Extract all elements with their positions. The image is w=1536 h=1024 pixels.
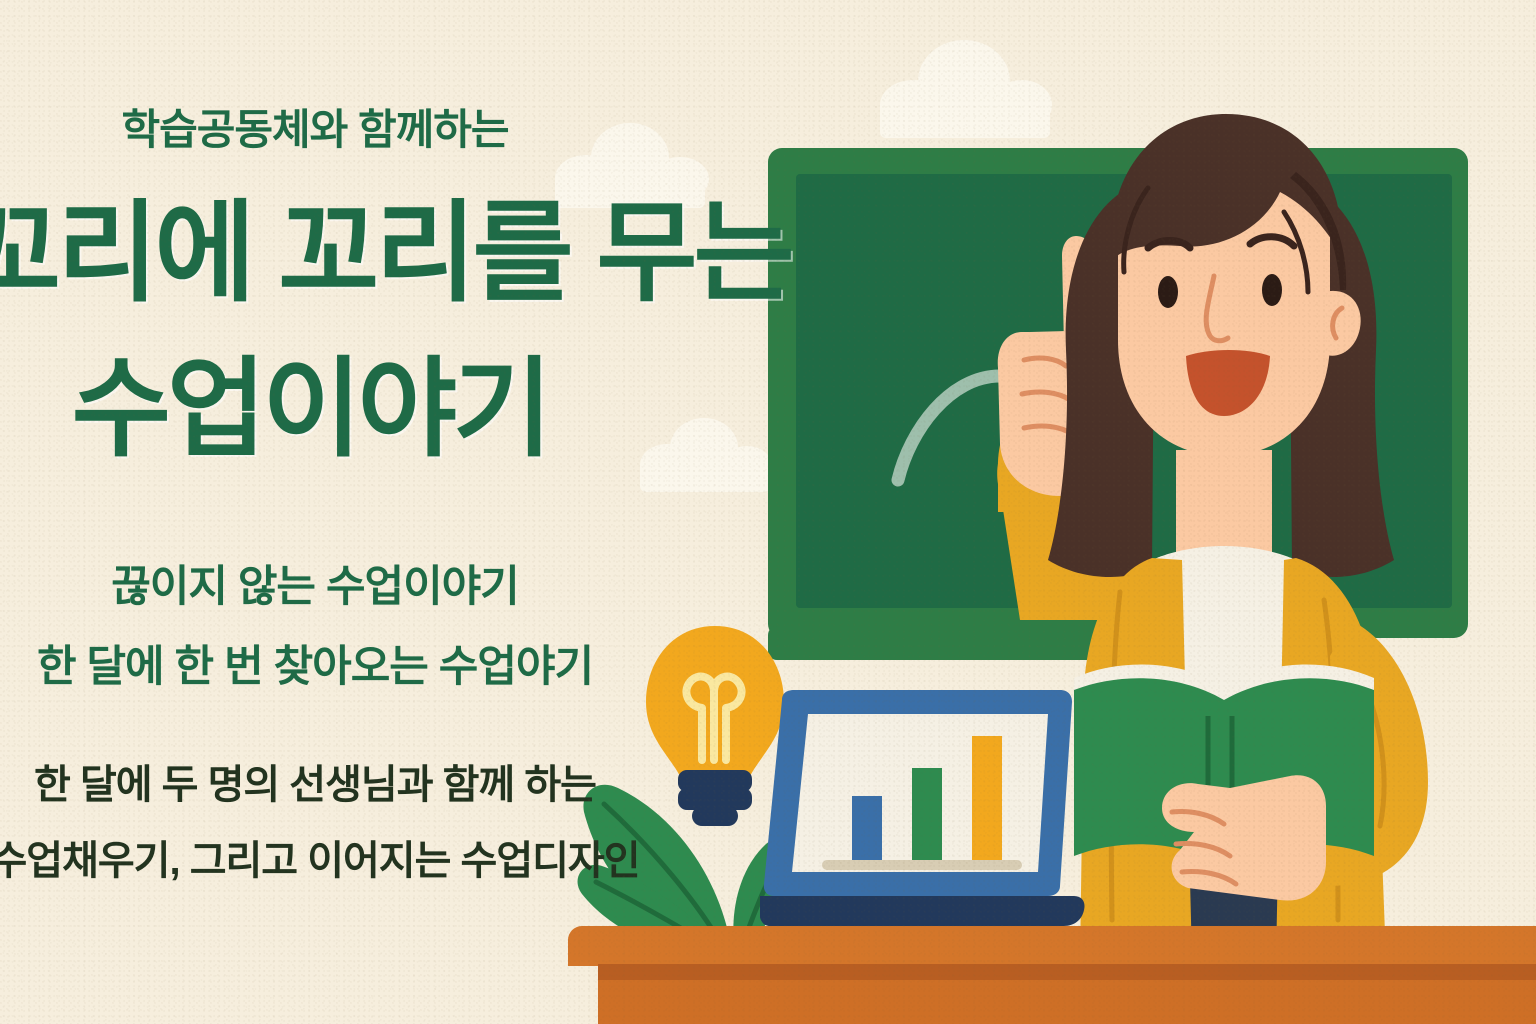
headline-block: 학습공동체와 함께하는 꼬리에 꼬리를 무는 수업이야기 끊이지 않는 수업이야… — [0, 0, 640, 1024]
promo-banner: 학습공동체와 함께하는 꼬리에 꼬리를 무는 수업이야기 끊이지 않는 수업이야… — [0, 0, 1536, 1024]
detail-line-2: 수업채우기, 그리고 이어지는 수업디자인 — [0, 828, 660, 886]
page-title-line-1: 꼬리에 꼬리를 무는 — [0, 196, 660, 312]
desk-top — [568, 926, 1536, 966]
page-title-line-2: 수업이야기 — [0, 352, 660, 465]
eyebrow-text: 학습공동체와 함께하는 — [0, 96, 660, 157]
chart-bar-2 — [912, 768, 942, 862]
subtitle-line-1: 끊이지 않는 수업이야기 — [0, 552, 660, 614]
chart-bar-3 — [972, 736, 1002, 862]
subtitle-line-2: 한 달에 한 번 찾아오는 수업야기 — [0, 632, 660, 694]
chart-bar-1 — [852, 796, 882, 862]
chart-baseline — [822, 860, 1022, 870]
detail-line-1: 한 달에 두 명의 선생님과 함께 하는 — [0, 752, 660, 810]
desk-body — [598, 980, 1536, 1024]
laptop-icon — [760, 690, 1090, 945]
desk — [568, 926, 1536, 1024]
